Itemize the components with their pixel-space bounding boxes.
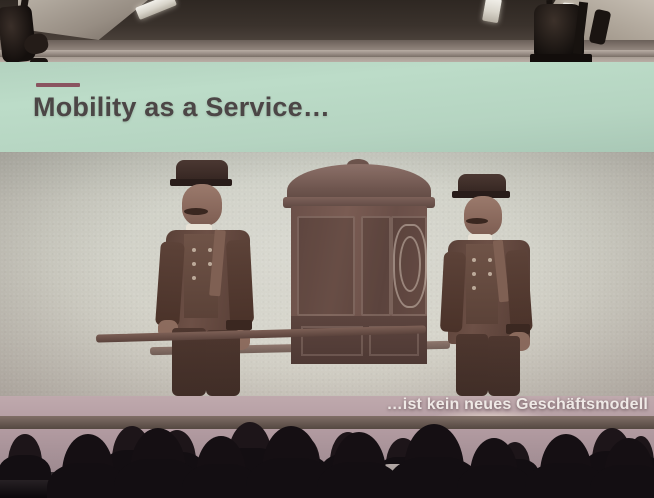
photo-vignette <box>0 152 654 396</box>
audience-shoulders <box>590 465 654 498</box>
slide-illustration <box>0 152 654 396</box>
presentation-photo: Mobility as a Service… <box>0 0 654 498</box>
audience-shoulders <box>457 465 532 498</box>
slide-title: Mobility as a Service… <box>33 92 330 123</box>
accent-rule <box>36 83 80 87</box>
audience <box>0 402 654 498</box>
slide-header-band: Mobility as a Service… <box>0 62 654 152</box>
audience-shoulders <box>0 455 51 480</box>
projection-screen: Mobility as a Service… <box>0 62 654 396</box>
